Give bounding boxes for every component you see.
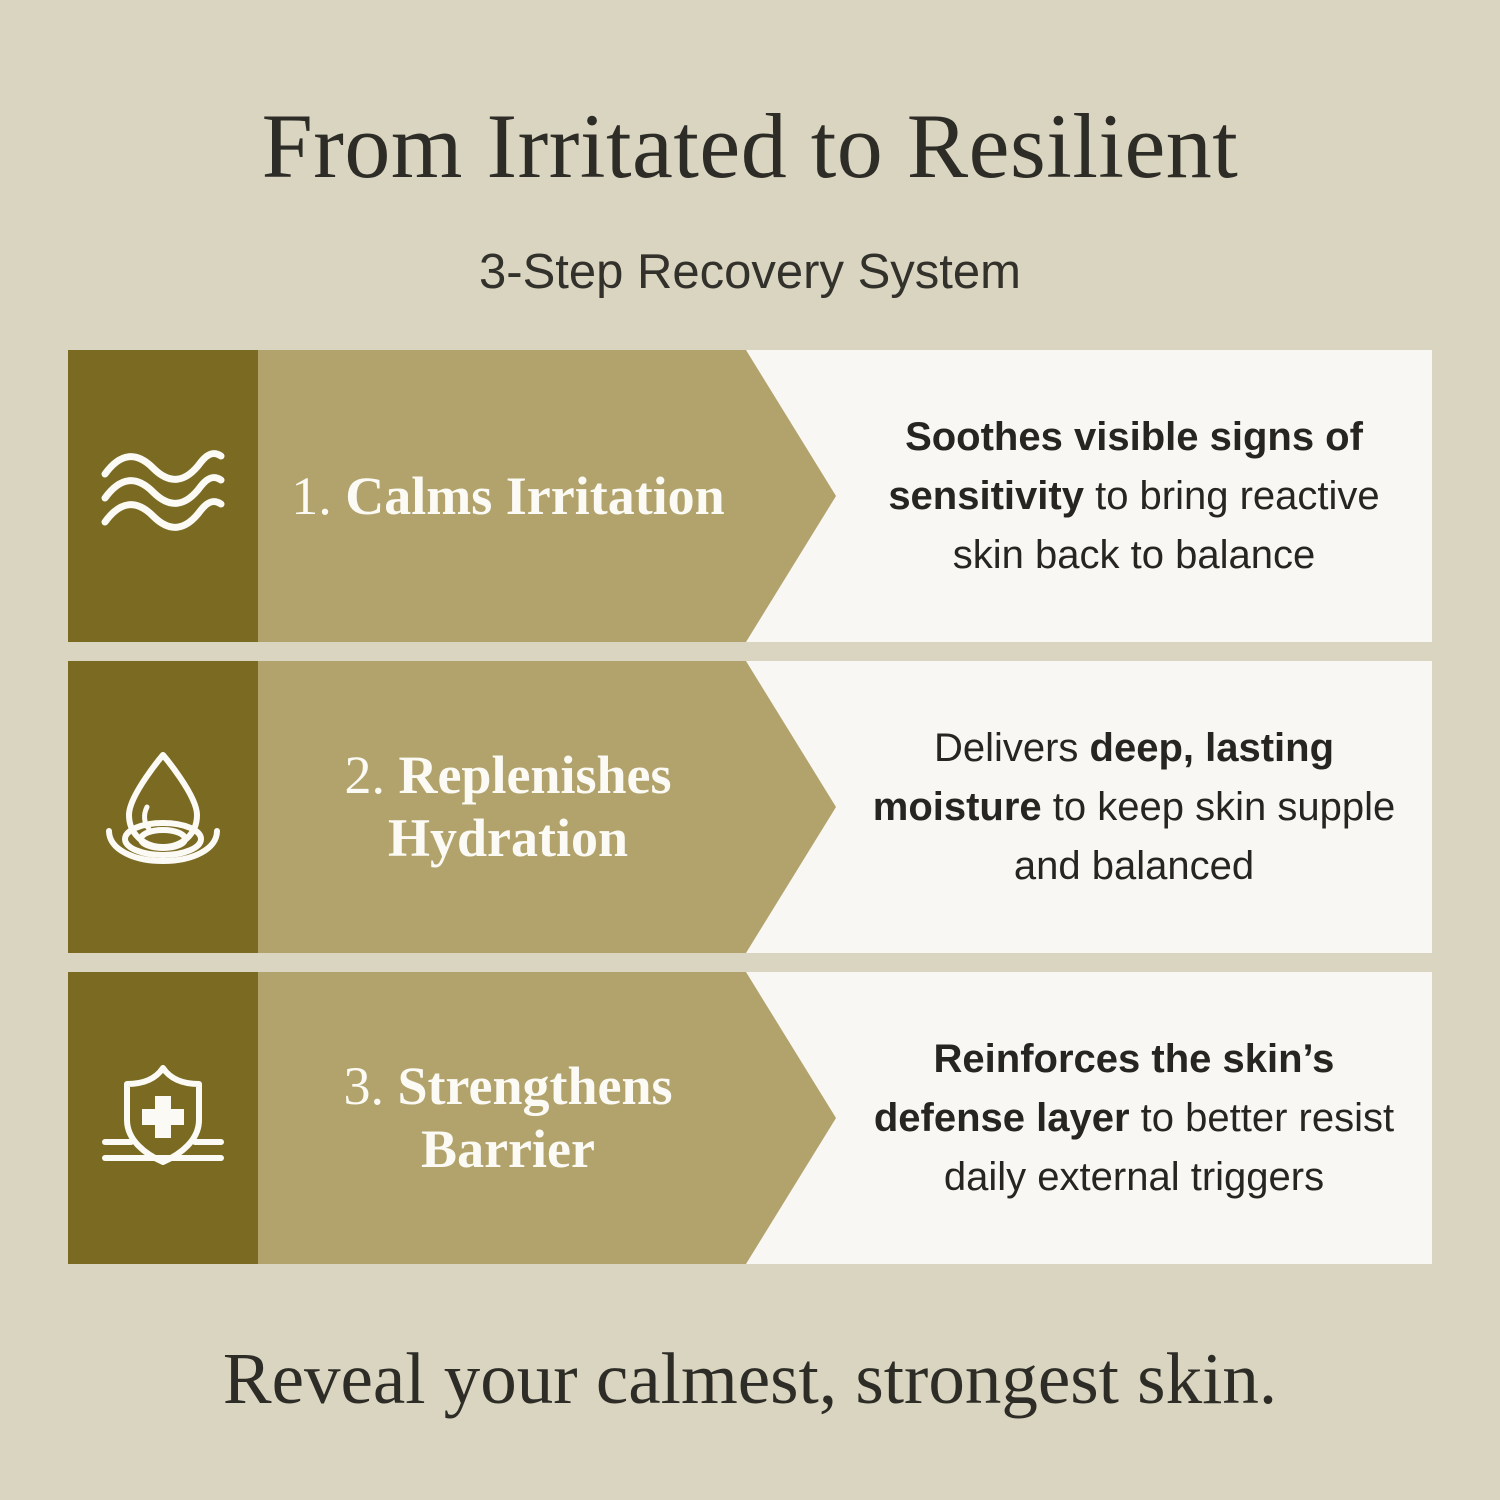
step-row: 2. Replenishes Hydration Delivers deep, … [68,661,1432,953]
shield-barrier-icon [101,1058,225,1178]
step-row: 3. Strengthens Barrier Reinforces the sk… [68,972,1432,1264]
step-icon-panel [68,972,258,1264]
step-arrow-band: 1. Calms Irritation [258,350,836,642]
step-description: Delivers deep, lasting moisture to keep … [856,719,1412,896]
step-name: Calms Irritation [345,466,724,526]
page-title: From Irritated to Resilient [0,96,1500,196]
step-number: 3. [343,1056,384,1116]
step-label: 2. Replenishes Hydration [258,744,836,870]
header: From Irritated to Resilient 3-Step Recov… [0,96,1500,301]
step-label: 3. Strengthens Barrier [258,1055,836,1181]
step-arrow-band: 3. Strengthens Barrier [258,972,836,1264]
page-subtitle: 3-Step Recovery System [0,243,1500,301]
steps-list: 1. Calms Irritation Soothes visible sign… [68,350,1432,1264]
footer-tagline: Reveal your calmest, strongest skin. [0,1337,1500,1421]
footer: Reveal your calmest, strongest skin. [0,1337,1500,1421]
waves-icon [99,448,227,544]
step-description-panel: Delivers deep, lasting moisture to keep … [836,661,1432,953]
step-row: 1. Calms Irritation Soothes visible sign… [68,350,1432,642]
step-description-prefix: Delivers [934,726,1090,770]
step-description-rest: to keep skin supple and balanced [1014,785,1395,888]
water-droplet-icon [103,747,223,867]
step-description: Reinforces the skin’s defense layer to b… [856,1030,1412,1207]
step-name: Replenishes Hydration [388,745,672,868]
step-label: 1. Calms Irritation [258,465,836,528]
step-number: 1. [291,466,332,526]
infographic-page: From Irritated to Resilient 3-Step Recov… [0,0,1500,1500]
step-arrow-band: 2. Replenishes Hydration [258,661,836,953]
step-name: Strengthens Barrier [397,1056,672,1179]
step-icon-panel [68,661,258,953]
step-description-panel: Reinforces the skin’s defense layer to b… [836,972,1432,1264]
step-number: 2. [344,745,385,805]
step-description: Soothes visible signs of sensitivity to … [856,408,1412,585]
step-icon-panel [68,350,258,642]
step-description-panel: Soothes visible signs of sensitivity to … [836,350,1432,642]
